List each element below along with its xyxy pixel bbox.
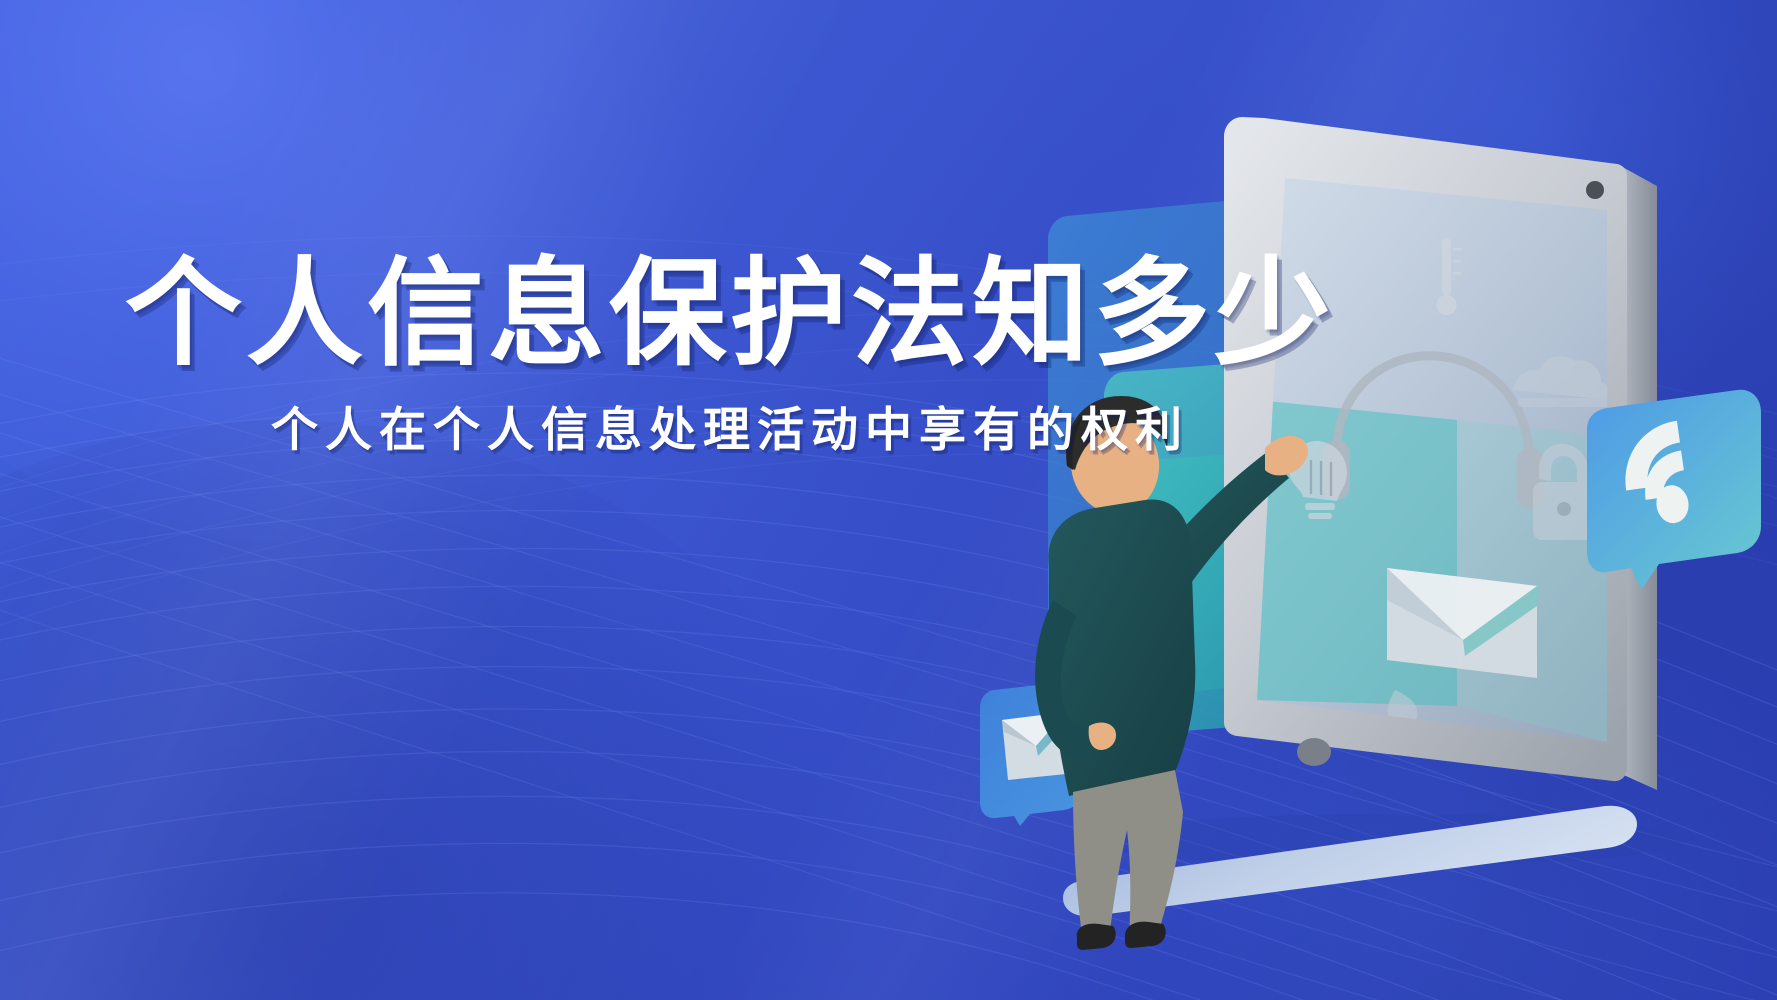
person-touching-screen [1035,396,1308,950]
banner-root: 个人信息保护法知多少 个人在个人信息处理活动中享有的权利 [0,0,1777,1000]
person-shoe-right [1125,922,1166,948]
shade-bottom-left [0,420,880,1000]
text-block: 个人信息保护法知多少 个人在个人信息处理活动中享有的权利 [0,252,1460,458]
page-title: 个人信息保护法知多少 [0,252,1460,376]
page-subtitle: 个人在个人信息处理活动中享有的权利 [0,402,1460,458]
illustration-front [917,0,1777,1000]
person-pants [1073,770,1183,942]
person-shoe-left [1077,924,1116,950]
